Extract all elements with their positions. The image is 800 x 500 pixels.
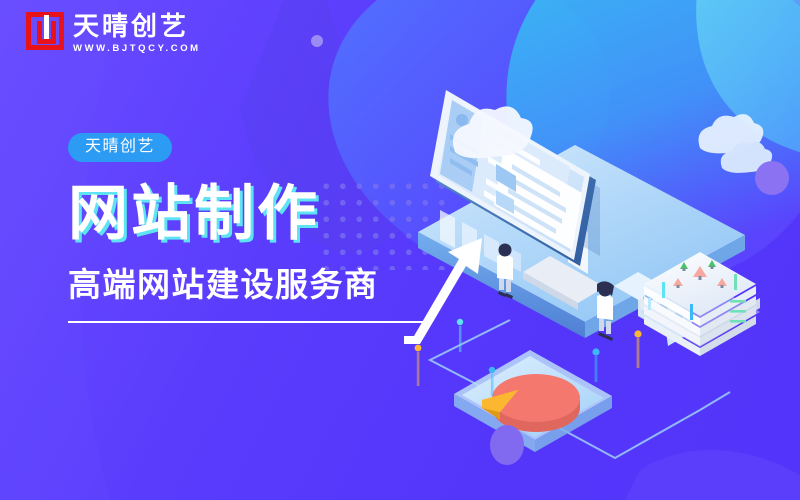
purple-sphere-bottom [490,425,524,465]
person-standing-right [597,281,614,341]
logo-mark-icon [26,12,64,50]
sub-headline: 高端网站建设服务商 [68,268,426,301]
promo-banner: 天晴创艺 WWW.BJTQCY.COM 天晴创艺 网站制作 高端网站建设服务商 [0,0,800,500]
main-headline: 网站制作 [68,184,426,244]
growth-arrow-icon [404,232,534,372]
brand-badge: 天晴创艺 [68,133,172,162]
headline-block: 天晴创艺 网站制作 高端网站建设服务商 [68,133,426,323]
logo-company-name: 天晴创艺 [73,13,201,40]
logo-website-url: WWW.BJTQCY.COM [73,43,201,54]
site-logo[interactable]: 天晴创艺 WWW.BJTQCY.COM [26,12,201,54]
divider-rule [68,321,426,323]
